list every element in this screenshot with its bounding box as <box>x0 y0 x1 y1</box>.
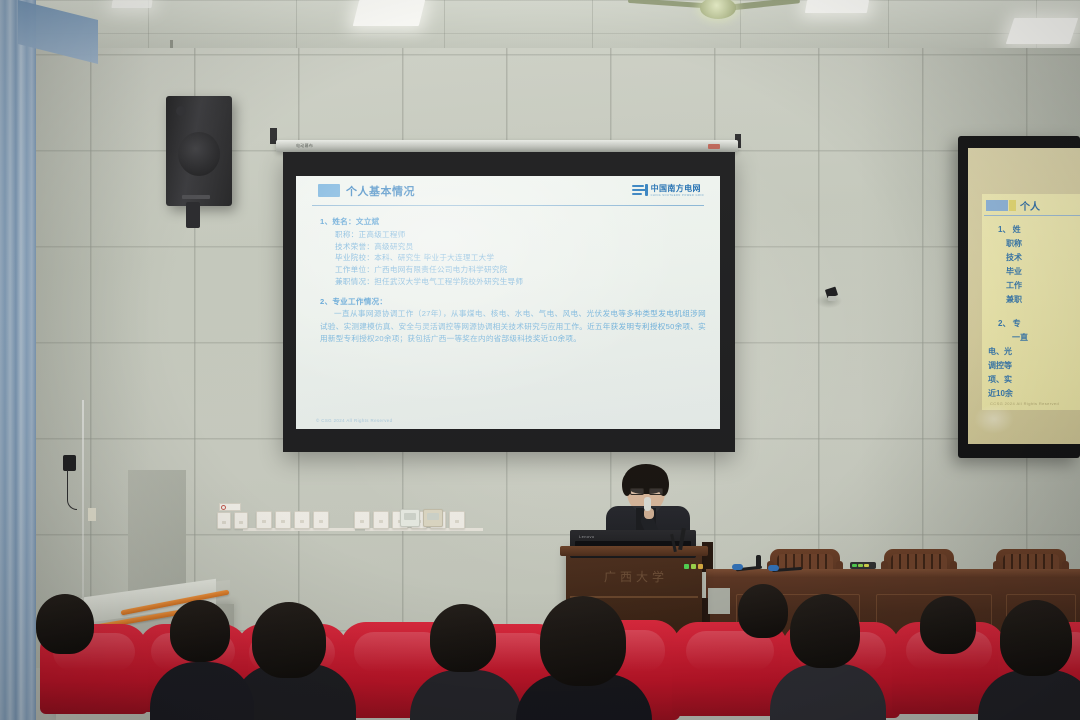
head-table-top <box>706 569 1080 578</box>
secondary-slide-line: 2、 专 <box>998 318 1021 329</box>
monitor-brand-label: Lenovo <box>579 534 595 539</box>
secondary-slide-title: 个人 <box>1020 198 1040 213</box>
slide-line: 工作单位：广西电网有限责任公司电力科学研究院 <box>320 264 706 276</box>
slide-section2-heading: 2、专业工作情况： <box>320 296 706 308</box>
slide-header: 个人基本情况 中国南方电网 CHINA SOUTHERN POWER GRID <box>296 176 720 210</box>
ac-control-panel[interactable] <box>423 509 443 527</box>
slide-line: 职称：正高级工程师 <box>320 229 706 241</box>
no-smoking-sign <box>219 503 241 511</box>
audience-member <box>738 584 788 638</box>
csg-logo-text: 中国南方电网 <box>651 183 704 194</box>
csg-logo-subtext: CHINA SOUTHERN POWER GRID <box>651 194 704 197</box>
secondary-slide-line: 一直 <box>1012 332 1028 343</box>
ceiling-light-panel <box>111 0 152 8</box>
audience-member <box>790 594 860 668</box>
secondary-slide-rule <box>984 215 1080 216</box>
secondary-display[interactable]: 个人 1、 姓 职称 技术 毕业 工作 兼职 2、 专 一直 电、光 调控等 项… <box>958 136 1080 458</box>
csg-logo: 中国南方电网 CHINA SOUTHERN POWER GRID <box>632 183 704 197</box>
secondary-slide-line: 兼职 <box>1006 294 1022 305</box>
slide-section2-body: 一直从事网源协调工作（27年），从事煤电、核电、水电、气电、风电、光伏发电等多种… <box>320 308 706 345</box>
fan-light-hub <box>700 0 736 19</box>
presenter-glasses-icon <box>630 488 663 495</box>
slide-title-marker-accent-icon <box>1009 200 1016 211</box>
speaker-woofer-icon <box>178 132 220 176</box>
slide-header-rule <box>312 205 704 206</box>
light-switch[interactable] <box>354 511 370 529</box>
secondary-slide-line: 工作 <box>1006 280 1022 291</box>
wall-camera-icon <box>826 288 839 299</box>
slide-title-marker-icon <box>986 200 1008 211</box>
table-indicator-lights <box>850 562 876 569</box>
secondary-slide-line: 近10余 <box>988 388 1013 399</box>
audience-member <box>430 604 496 672</box>
wall-phone-icon[interactable] <box>63 455 76 471</box>
wall-outlet-plate <box>88 508 96 521</box>
light-switch[interactable] <box>313 511 329 529</box>
slide-body: 1、姓名：文立斌 职称：正高级工程师 技术荣誉：高级研究员 毕业院校：本科、研究… <box>320 216 706 345</box>
projected-slide: 个人基本情况 中国南方电网 CHINA SOUTHERN POWER GRID … <box>296 176 720 429</box>
light-switch[interactable] <box>234 512 248 529</box>
light-switch[interactable] <box>217 512 231 529</box>
audience-member <box>170 600 230 662</box>
speaker-brand-plate <box>182 195 210 199</box>
audience-member <box>36 594 94 654</box>
speaker-tweeter-icon <box>176 106 186 116</box>
secondary-slide-line: 项、实 <box>988 374 1012 385</box>
secondary-slide-line: 1、 姓 <box>998 224 1021 235</box>
secondary-slide-line: 调控等 <box>988 360 1012 371</box>
window-curtain <box>0 0 36 720</box>
secondary-slide-line: 电、光 <box>988 346 1012 357</box>
screen-housing-label: 电动幕布 <box>296 143 313 149</box>
slide-line: 毕业院校：本科、研究生 毕业于大连理工大学 <box>320 252 706 264</box>
speaker-mount-bracket <box>186 202 200 228</box>
secondary-slide-line: 技术 <box>1006 252 1022 263</box>
lecture-hall-scene: 电动幕布 个人基本情况 中国南方电网 CHINA SOUTHERN POWER … <box>0 0 1080 720</box>
secondary-display-screen: 个人 1、 姓 职称 技术 毕业 工作 兼职 2、 专 一直 电、光 调控等 项… <box>968 148 1080 444</box>
csg-logo-mark-icon <box>632 184 648 196</box>
ceiling-light-panel <box>353 0 425 26</box>
slide-title: 个人基本情况 <box>346 183 415 199</box>
secondary-display-slide: 个人 1、 姓 职称 技术 毕业 工作 兼职 2、 专 一直 电、光 调控等 项… <box>982 194 1080 410</box>
audience-member <box>920 596 976 654</box>
slide-section1-heading: 1、姓名：文立斌 <box>320 216 706 228</box>
slide-footer: © CSG 2024 All Rights Reserved <box>316 418 393 423</box>
podium-engraving: 广西大学 <box>588 560 684 592</box>
wall-speaker <box>166 96 232 206</box>
light-switch[interactable] <box>373 511 389 529</box>
ceiling-light-panel <box>1006 18 1078 44</box>
podium-indicator-lights <box>684 564 706 570</box>
secondary-slide-line: 毕业 <box>1006 266 1022 277</box>
audience-member <box>252 602 326 678</box>
light-switch[interactable] <box>294 511 310 529</box>
screen-housing-indicator <box>708 144 720 149</box>
ac-control-panel[interactable] <box>400 509 420 527</box>
ceiling-fan <box>628 0 796 22</box>
audience-member <box>540 596 626 686</box>
light-switch[interactable] <box>256 511 272 529</box>
light-switch[interactable] <box>449 511 465 529</box>
slide-line: 技术荣誉：高级研究员 <box>320 241 706 253</box>
podium-top <box>560 546 708 556</box>
secondary-slide-line: 职称 <box>1006 238 1022 249</box>
audience-member <box>1000 600 1072 676</box>
slide-line: 兼职情况：担任武汉大学电气工程学院校外研究生导师 <box>320 276 706 288</box>
projector-screen-housing[interactable]: 电动幕布 <box>276 140 738 152</box>
light-switch[interactable] <box>275 511 291 529</box>
ceiling-light-panel <box>805 0 869 13</box>
phone-cord <box>67 470 77 510</box>
handheld-microphone-icon <box>644 497 651 511</box>
slide-title-marker-icon <box>318 184 340 197</box>
secondary-display-glare <box>974 404 1014 434</box>
